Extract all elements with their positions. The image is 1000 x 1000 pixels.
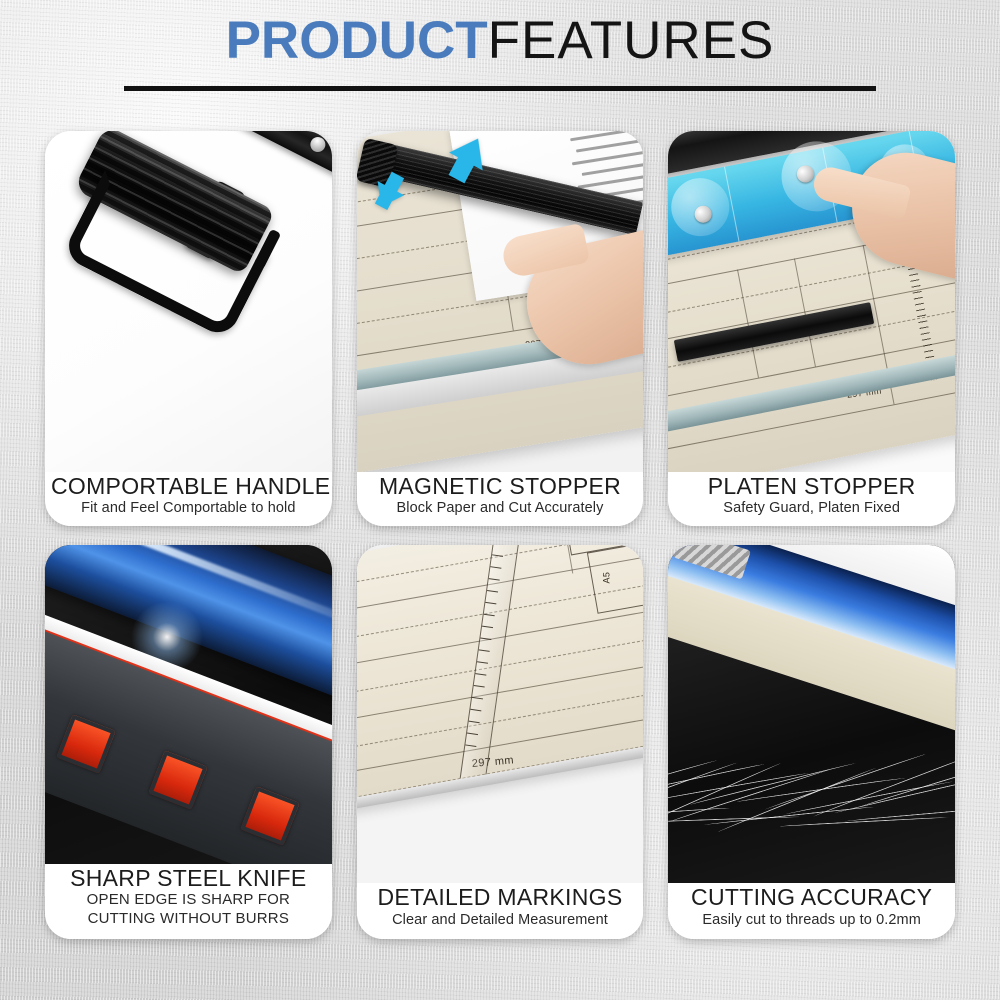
card-title: SHARP STEEL KNIFE — [51, 866, 326, 890]
card-title: CUTTING ACCURACY — [674, 885, 949, 909]
card-subtitle-line2: CUTTING WITHOUT BURRS — [51, 911, 326, 928]
card-subtitle: Fit and Feel Comportable to hold — [51, 500, 326, 516]
card-subtitle: OPEN EDGE IS SHARP FOR — [51, 892, 326, 909]
caption-platen-stopper: PLATEN STOPPER Safety Guard, Platen Fixe… — [668, 472, 955, 526]
card-subtitle: Safety Guard, Platen Fixed — [674, 500, 949, 516]
size-label-a5: A5 — [601, 571, 611, 583]
page-title-product: PRODUCT — [226, 11, 488, 70]
card-title: MAGNETIC STOPPER — [363, 474, 638, 498]
page-title-features: FEATURES — [488, 11, 775, 70]
photo-platen-stopper: 297 mm — [668, 131, 955, 472]
photo-comportable-handle — [45, 131, 332, 472]
title-divider-rule — [124, 86, 876, 91]
page-header: PRODUCTFEATURES — [0, 0, 1000, 112]
caption-cutting-accuracy: CUTTING ACCURACY Easily cut to threads u… — [668, 883, 955, 939]
feature-card-grid: COMPORTABLE HANDLE Fit and Feel Comporta… — [45, 131, 955, 939]
caption-sharp-steel-knife: SHARP STEEL KNIFE OPEN EDGE IS SHARP FOR… — [45, 864, 332, 939]
caption-detailed-markings: DETAILED MARKINGS Clear and Detailed Mea… — [357, 883, 644, 939]
card-title: DETAILED MARKINGS — [363, 885, 638, 909]
photo-cutting-accuracy — [668, 545, 955, 884]
feature-card-detailed-markings[interactable]: B6 A5 297 mm DETAILED MARKINGS — [357, 545, 644, 940]
photo-sharp-steel-knife — [45, 545, 332, 865]
card-subtitle: Easily cut to threads up to 0.2mm — [674, 912, 949, 928]
page-title: PRODUCTFEATURES — [0, 14, 1000, 67]
card-subtitle: Block Paper and Cut Accurately — [363, 500, 638, 516]
card-title: PLATEN STOPPER — [674, 474, 949, 498]
feature-card-cutting-accuracy[interactable]: CUTTING ACCURACY Easily cut to threads u… — [668, 545, 955, 940]
caption-comportable-handle: COMPORTABLE HANDLE Fit and Feel Comporta… — [45, 472, 332, 526]
caption-magnetic-stopper: MAGNETIC STOPPER Block Paper and Cut Acc… — [357, 472, 644, 526]
cut-threads-group — [668, 695, 955, 884]
photo-magnetic-stopper: 297 mm — [357, 131, 644, 472]
arm-rivet-icon — [307, 134, 327, 154]
feature-card-platen-stopper[interactable]: 297 mm PLATEN STOPPER Safety Guard, Plat… — [668, 131, 955, 526]
card-subtitle: Clear and Detailed Measurement — [363, 912, 638, 928]
feature-card-magnetic-stopper[interactable]: 297 mm MAGNETIC STOPPER Block — [357, 131, 644, 526]
photo-detailed-markings: B6 A5 297 mm — [357, 545, 644, 884]
feature-card-sharp-steel-knife[interactable]: SHARP STEEL KNIFE OPEN EDGE IS SHARP FOR… — [45, 545, 332, 940]
card-title: COMPORTABLE HANDLE — [51, 474, 326, 498]
size-box-a5: A5 — [587, 545, 644, 614]
feature-card-comportable-handle[interactable]: COMPORTABLE HANDLE Fit and Feel Comporta… — [45, 131, 332, 526]
